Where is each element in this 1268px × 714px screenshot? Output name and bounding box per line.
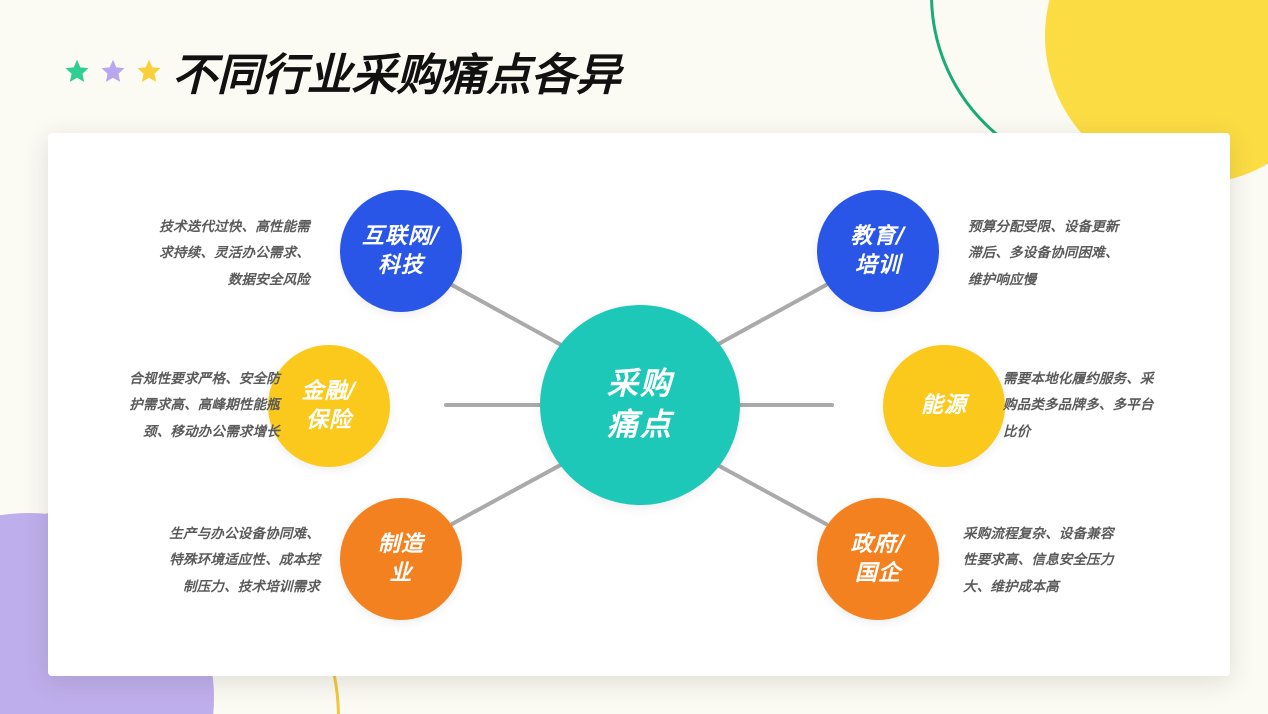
note-manufacturing: 生产与办公设备协同难、 特殊环境适应性、成本控 制压力、技术培训需求 — [94, 521, 320, 600]
hub-spoke-diagram: 采购 痛点 互联网/ 科技 金融/ 保险 制造 业 教育/ 培训 能源 政府/ … — [48, 133, 1230, 676]
center-node-procurement-pain-points[interactable]: 采购 痛点 — [540, 305, 740, 505]
node-government-soe[interactable]: 政府/ 国企 — [817, 498, 939, 620]
note-finance-insurance: 合规性要求严格、安全防 护需求高、高峰期性能瓶 颈、移动办公需求增长 — [64, 366, 280, 445]
slide-canvas: 不同行业采购痛点各异 采购 痛点 互联网/ 科技 金融/ 保险 制造 业 教育/… — [0, 0, 1268, 714]
note-government-soe: 采购流程复杂、设备兼容 性要求高、信息安全压力 大、维护成本高 — [963, 521, 1189, 600]
note-internet-tech: 技术迭代过快、高性能需 求持续、灵活办公需求、 数据安全风险 — [84, 214, 310, 293]
node-education-training[interactable]: 教育/ 培训 — [817, 190, 939, 312]
star-purple-icon — [100, 58, 126, 84]
star-group — [64, 58, 162, 84]
node-manufacturing[interactable]: 制造 业 — [340, 498, 462, 620]
node-energy[interactable]: 能源 — [883, 345, 1005, 467]
slide-header: 不同行业采购痛点各异 — [64, 40, 612, 102]
page-title: 不同行业采购痛点各异 — [172, 39, 621, 103]
node-finance-insurance[interactable]: 金融/ 保险 — [268, 345, 390, 467]
star-green-icon — [64, 58, 90, 84]
node-internet-tech[interactable]: 互联网/ 科技 — [340, 190, 462, 312]
note-education-training: 预算分配受限、设备更新 滞后、多设备协同困难、 维护响应慢 — [968, 214, 1194, 293]
note-energy: 需要本地化履约服务、采 购品类多品牌多、多平台 比价 — [1003, 366, 1219, 445]
star-yellow-icon — [136, 58, 162, 84]
